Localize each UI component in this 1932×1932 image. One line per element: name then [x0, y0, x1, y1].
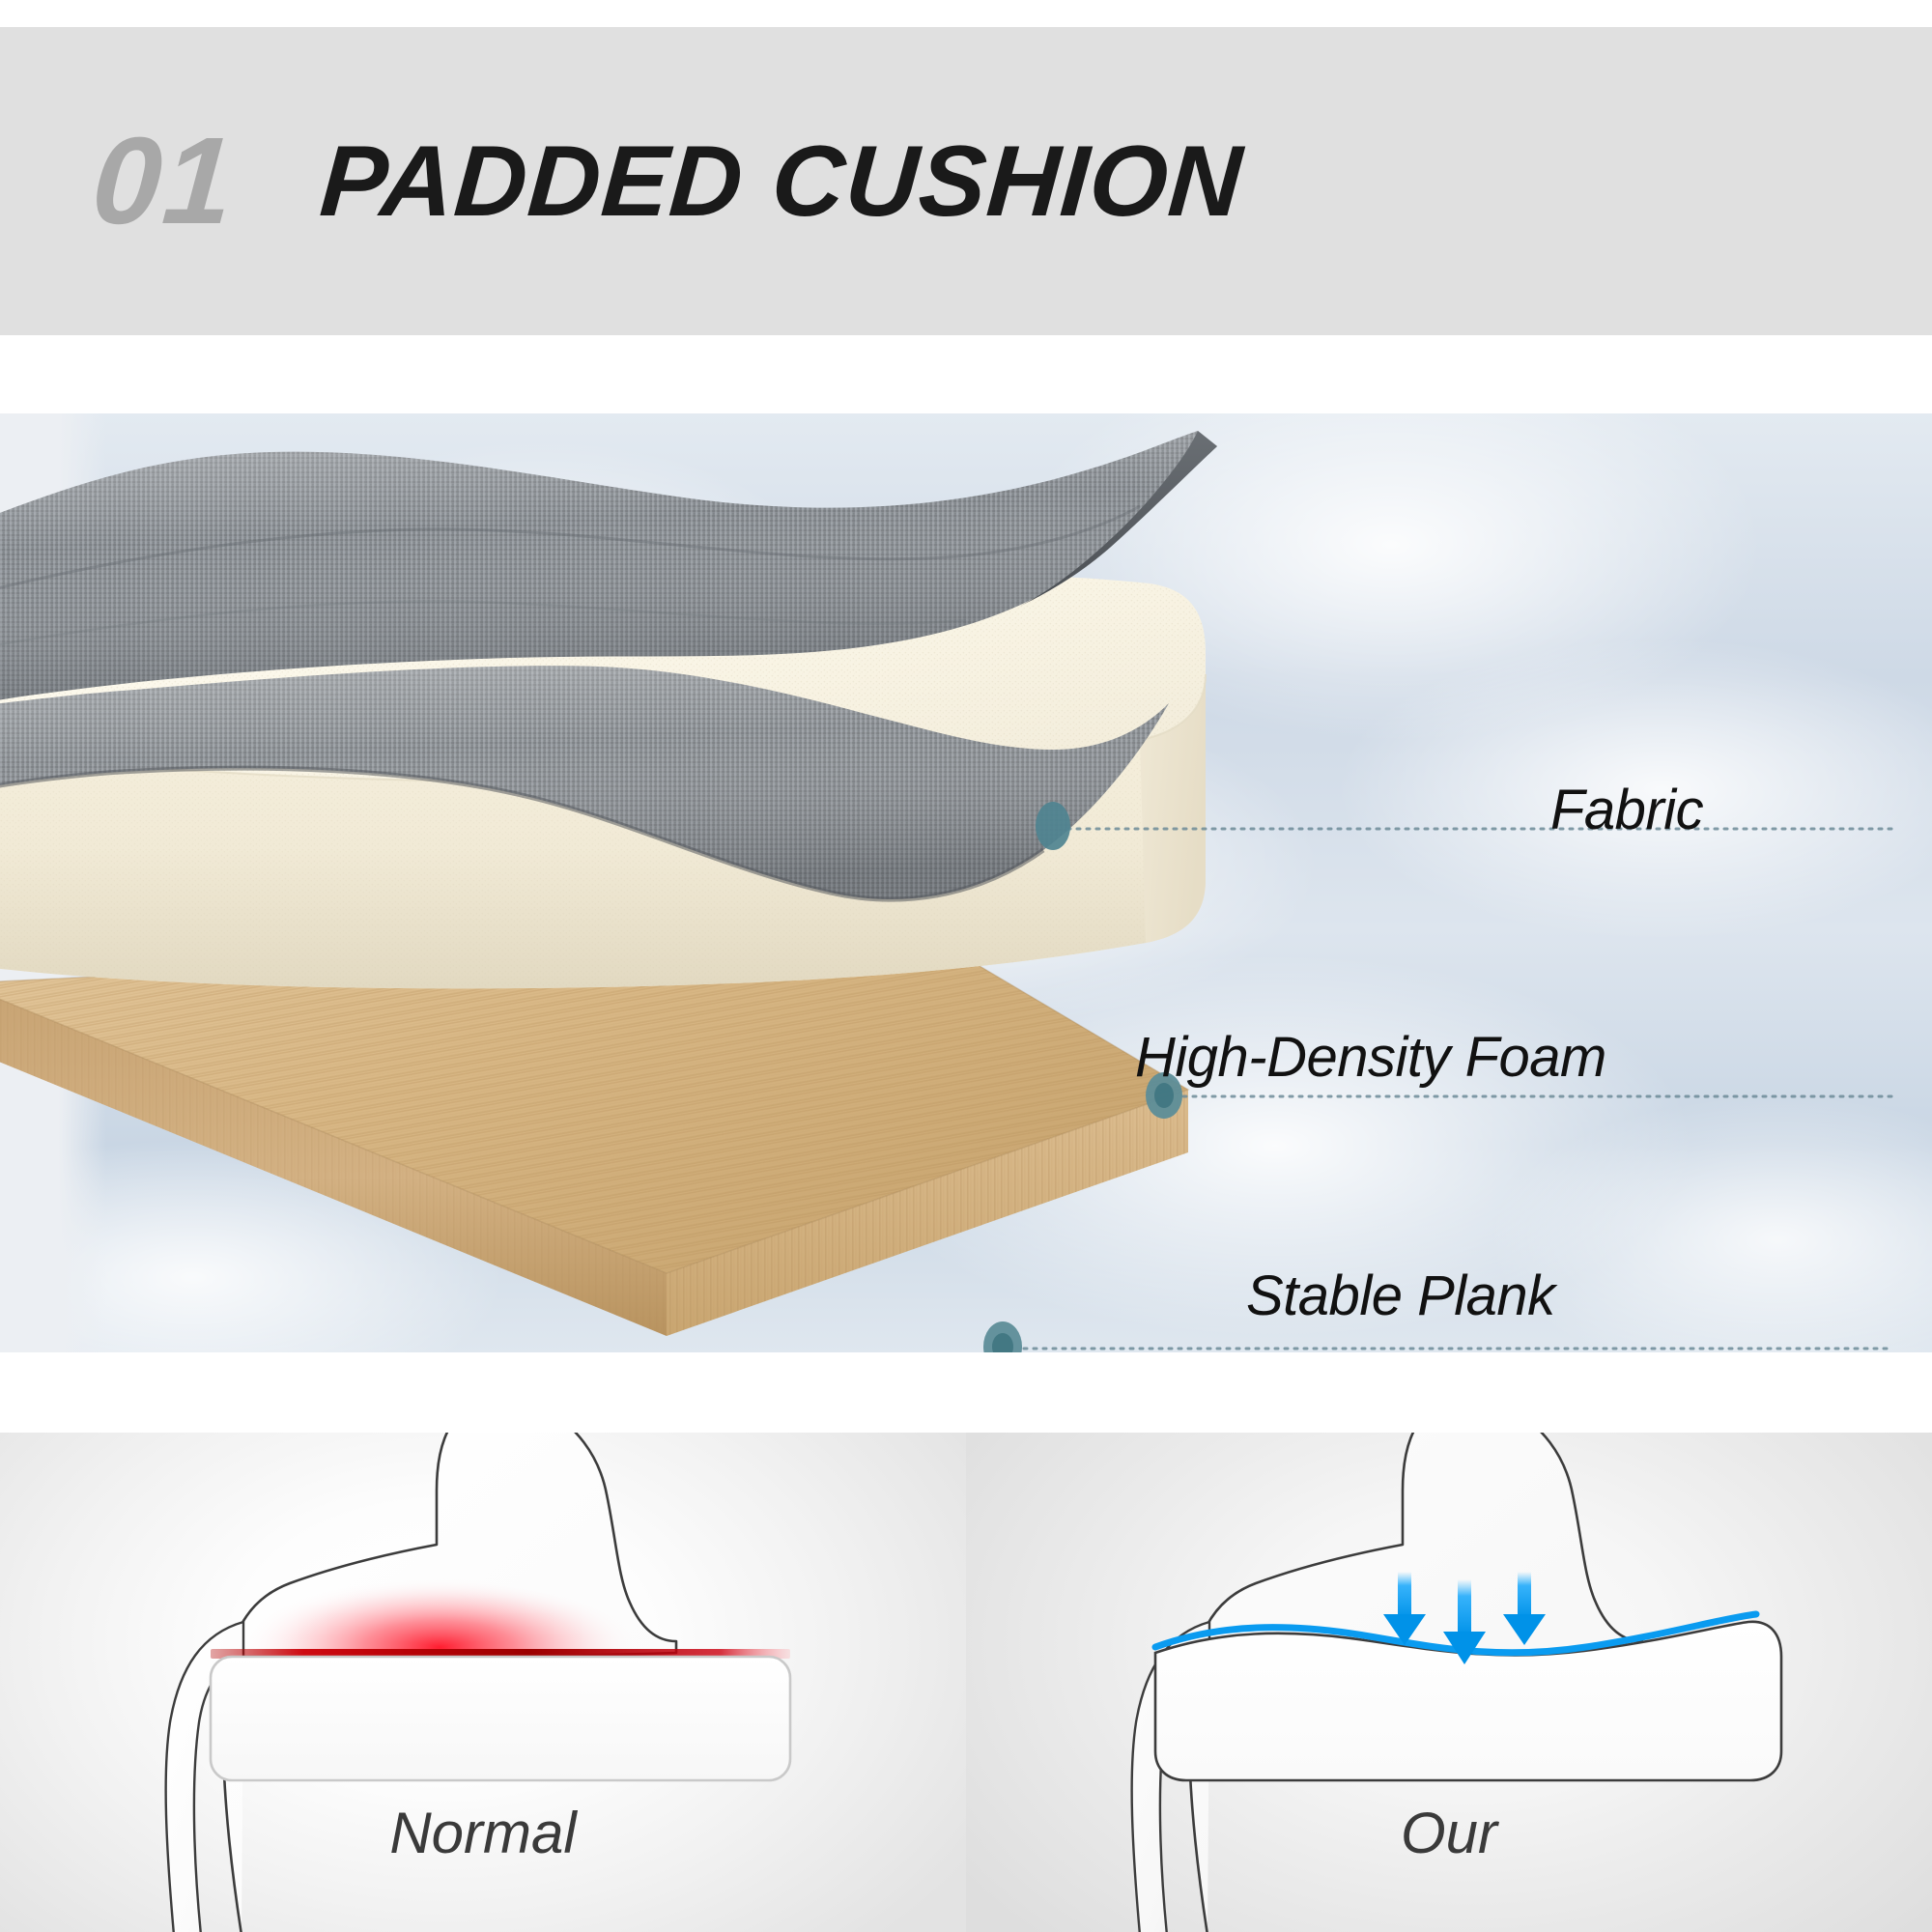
layer-label-stable-plank: Stable Plank [1246, 1268, 1555, 1324]
step-number: 01 [89, 120, 239, 243]
comparison-caption-our: Our [966, 1804, 1932, 1862]
comparison-caption-normal: Normal [0, 1804, 966, 1862]
layer-label-high-density-foam: High-Density Foam [1135, 1030, 1606, 1086]
comparison-our: Our [966, 1433, 1932, 1932]
stable-plank-layer [0, 935, 1188, 1336]
product-layers-illustration [0, 413, 1932, 1352]
fabric-marker-dot [1036, 802, 1070, 850]
product-exploded-view: Fabric High-Density Foam Stable Plank [0, 413, 1932, 1352]
page-title: PADDED CUSHION [318, 131, 1246, 232]
normal-cushion [211, 1657, 790, 1780]
infographic-page: 01 PADDED CUSHION [0, 0, 1932, 1932]
comparison-normal: Normal [0, 1433, 966, 1932]
header-band: 01 PADDED CUSHION [0, 27, 1932, 335]
comparison-panel: Normal [0, 1433, 1932, 1932]
layer-label-fabric: Fabric [1550, 782, 1703, 838]
